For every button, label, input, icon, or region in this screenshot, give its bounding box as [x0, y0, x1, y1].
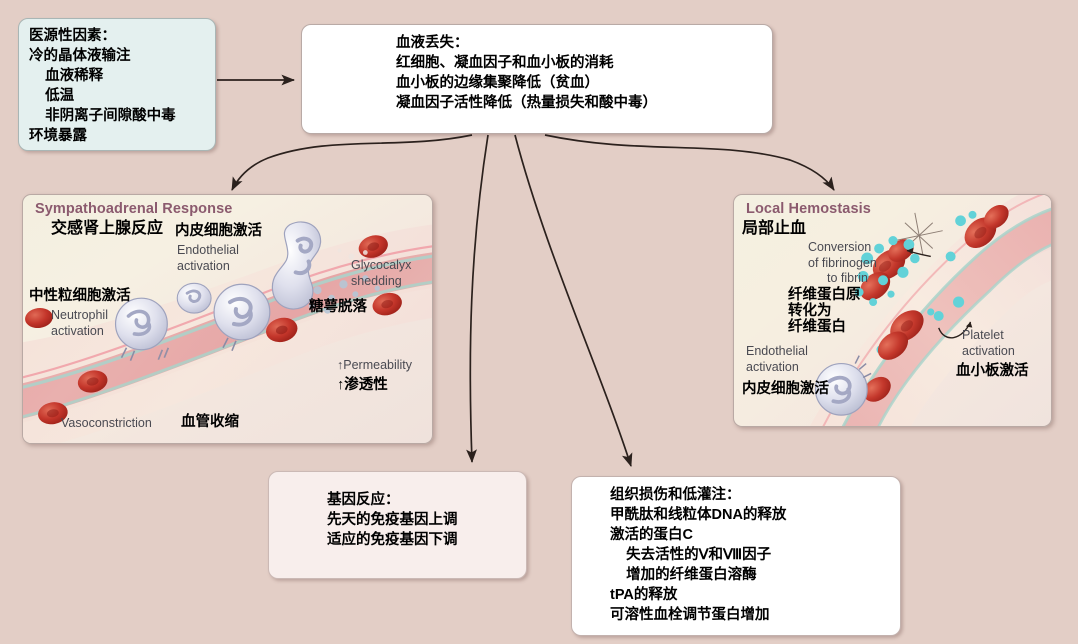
label-neutrophil-activation-en: Neutrophil activation — [51, 308, 108, 339]
label-platelet-activation-en: Platelet activation — [962, 328, 1015, 359]
blood-loss-text: 血液丢失： 红细胞、凝血因子和血小板的消耗 血小板的边缘集聚降低（贫血） 凝血因… — [396, 33, 657, 113]
panel-title-local-hemostasis-en: Local Hemostasis — [746, 201, 871, 217]
panel-title-sympathoadrenal-en: Sympathoadrenal Response — [35, 201, 232, 217]
diagram-canvas: 医源性因素： 冷的晶体液输注 血液稀释 低温 非阴离子间隙酸中毒 环境暴露 血液… — [0, 0, 1078, 644]
box-blood-loss: 血液丢失： 红细胞、凝血因子和血小板的消耗 血小板的边缘集聚降低（贫血） 凝血因… — [301, 24, 773, 134]
label-endothelial-activation-hemostasis-en: Endothelial activation — [746, 344, 808, 375]
panel-local-hemostasis: Local Hemostasis 局部止血 Conversion of fibr… — [733, 194, 1052, 427]
label-glycocalyx-shedding-en: Glycocalyx shedding — [351, 258, 411, 289]
label-vasoconstriction-cn: 血管收缩 — [181, 414, 239, 430]
tissue-damage-text: 组织损伤和低灌注： 甲酰肽和线粒体DNA的释放 激活的蛋白C 失去活性的Ⅴ和Ⅷ因… — [610, 485, 786, 625]
box-tissue-damage: 组织损伤和低灌注： 甲酰肽和线粒体DNA的释放 激活的蛋白C 失去活性的Ⅴ和Ⅷ因… — [571, 476, 901, 636]
label-permeability-en: ↑Permeability — [337, 358, 412, 374]
box-gene-response: 基因反应： 先天的免疫基因上调 适应的免疫基因下调 — [268, 471, 527, 579]
box-iatrogenic-factors: 医源性因素： 冷的晶体液输注 血液稀释 低温 非阴离子间隙酸中毒 环境暴露 — [18, 18, 216, 151]
iatrogenic-factors-text: 医源性因素： 冷的晶体液输注 血液稀释 低温 非阴离子间隙酸中毒 环境暴露 — [29, 26, 176, 146]
label-fibrin-conversion-cn: 纤维蛋白原 转化为 纤维蛋白 — [788, 287, 861, 336]
label-vasoconstriction-en: Vasoconstriction — [61, 416, 152, 432]
panel-sympathoadrenal-response: Sympathoadrenal Response 交感肾上腺反应 内皮细胞激活 … — [22, 194, 433, 444]
label-endothelial-activation-en: Endothelial activation — [177, 243, 239, 274]
label-endothelial-activation-hemostasis-cn: 内皮细胞激活 — [742, 381, 829, 397]
label-glycocalyx-shedding-cn: 糖萼脱落 — [309, 299, 367, 315]
panel-title-sympathoadrenal-cn: 交感肾上腺反应 — [51, 220, 163, 238]
label-fibrin-conversion-en: Conversion of fibrinogen to fibrin — [808, 240, 868, 287]
label-neutrophil-activation-cn: 中性粒细胞激活 — [29, 288, 131, 304]
label-permeability-cn: ↑渗透性 — [337, 377, 388, 393]
label-endothelial-activation-cn: 内皮细胞激活 — [175, 223, 262, 239]
label-platelet-activation-cn: 血小板激活 — [956, 363, 1029, 379]
gene-response-text: 基因反应： 先天的免疫基因上调 适应的免疫基因下调 — [327, 490, 458, 550]
panel-title-local-hemostasis-cn: 局部止血 — [742, 220, 806, 238]
